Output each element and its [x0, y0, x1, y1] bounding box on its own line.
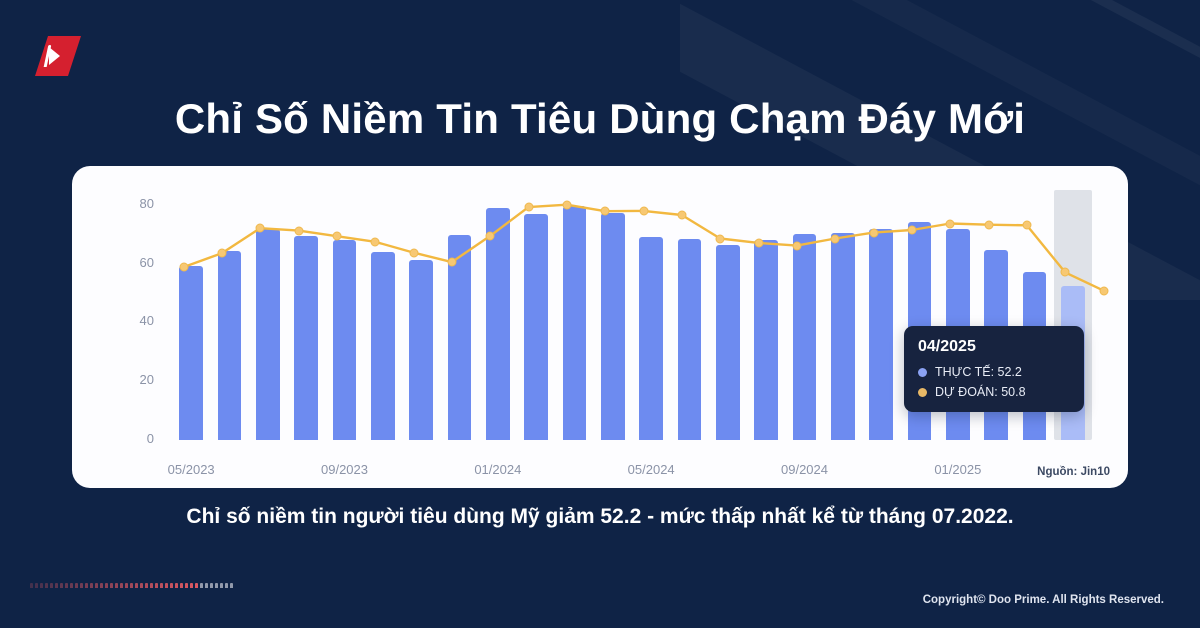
forecast-point-marker	[256, 224, 265, 233]
forecast-point-marker	[217, 249, 226, 258]
forecast-point-marker	[601, 207, 610, 216]
forecast-point-marker	[1099, 286, 1108, 295]
forecast-point-marker	[179, 263, 188, 272]
forecast-point-marker	[524, 203, 533, 212]
tooltip-forecast-label: DỰ ĐOÁN: 50.8	[935, 385, 1026, 399]
forecast-point-marker	[716, 234, 725, 243]
forecast-point-marker	[486, 231, 495, 240]
tooltip-forecast-row: DỰ ĐOÁN: 50.8	[918, 385, 1070, 399]
forecast-point-marker	[1022, 221, 1031, 230]
forecast-point-marker	[562, 200, 571, 209]
forecast-point-marker	[831, 234, 840, 243]
forecast-point-marker	[907, 226, 916, 235]
forecast-point-marker	[639, 206, 648, 215]
forecast-point-marker	[792, 241, 801, 250]
forecast-point-marker	[447, 258, 456, 267]
chart-caption: Chỉ số niềm tin người tiêu dùng Mỹ giảm …	[0, 505, 1200, 529]
forecast-point-marker	[754, 238, 763, 247]
forecast-point-marker	[409, 248, 418, 257]
copyright-text: Copyright© Doo Prime. All Rights Reserve…	[923, 594, 1164, 606]
doo-prime-logo-icon	[35, 36, 81, 76]
forecast-point-marker	[294, 226, 303, 235]
forecast-point-marker	[984, 220, 993, 229]
forecast-point-marker	[869, 228, 878, 237]
x-axis-tick-label: 09/2024	[781, 462, 828, 477]
tooltip-actual-label: THỰC TẾ: 52.2	[935, 365, 1022, 379]
tooltip-date: 04/2025	[918, 338, 1070, 356]
x-axis-tick-label: 05/2023	[168, 462, 215, 477]
forecast-point-marker	[946, 219, 955, 228]
tooltip-actual-row: THỰC TẾ: 52.2	[918, 365, 1070, 379]
chart-source: Nguồn: Jin10	[1037, 466, 1110, 478]
forecast-point-marker	[332, 232, 341, 241]
forecast-color-dot-icon	[918, 388, 927, 397]
actual-color-dot-icon	[918, 368, 927, 377]
forecast-point-marker	[1061, 268, 1070, 277]
x-axis-tick-label: 05/2024	[628, 462, 675, 477]
forecast-point-marker	[677, 211, 686, 220]
chart-card: 02040608005/202309/202301/202405/202409/…	[72, 166, 1128, 488]
x-axis-tick-label: 09/2023	[321, 462, 368, 477]
page-title: Chỉ Số Niềm Tin Tiêu Dùng Chạm Đáy Mới	[0, 95, 1200, 143]
x-axis-tick-label: 01/2024	[474, 462, 521, 477]
x-axis-tick-label: 01/2025	[934, 462, 981, 477]
forecast-point-marker	[371, 237, 380, 246]
chart-tooltip: 04/2025 THỰC TẾ: 52.2 DỰ ĐOÁN: 50.8	[904, 326, 1084, 412]
decorative-dots	[30, 579, 235, 588]
